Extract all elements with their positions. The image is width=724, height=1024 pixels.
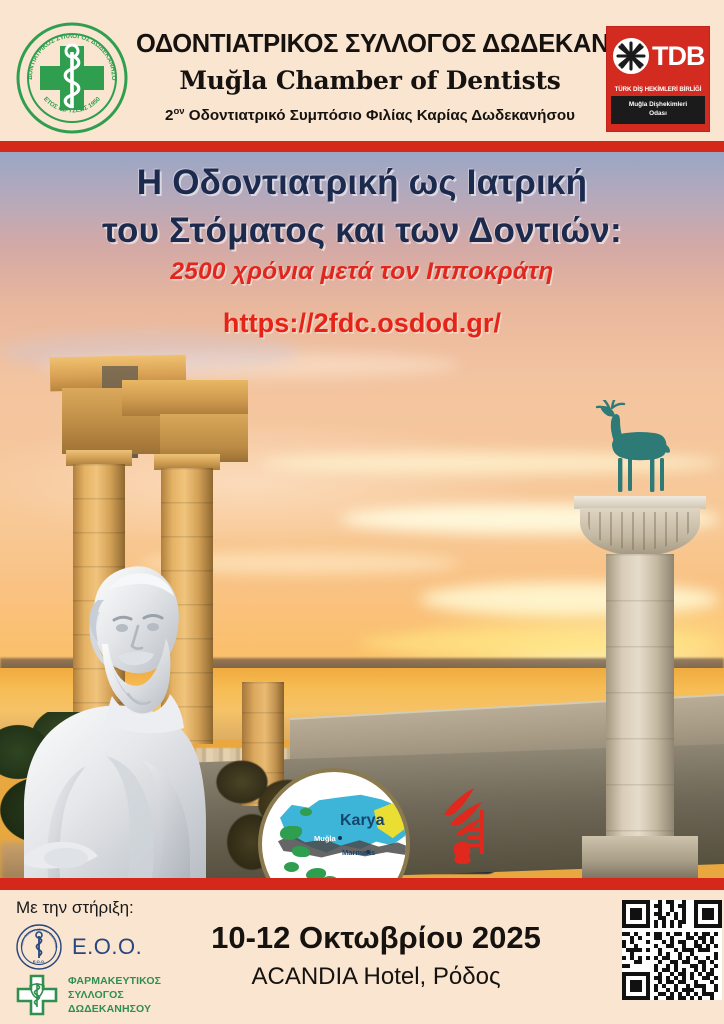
event-venue: ACANDIA Hotel, Ρόδος — [176, 963, 576, 991]
divider-top — [0, 141, 724, 152]
tdb-chamber-line1: Muğla Dişhekimleri — [611, 100, 705, 109]
tdb-chamber-panel: Muğla Dişhekimleri Odası — [611, 96, 705, 124]
poster-footer: Με την στήριξη: Ε.Ο.Ο. ΕΛΛΗΝΙΚΗ ΟΔΟΝΤΙΑΤ… — [0, 890, 724, 1024]
tdb-chamber-line2: Odası — [611, 109, 705, 118]
event-date: 10-12 Οκτωβρίου 2025 — [176, 920, 576, 956]
qr-code-icon[interactable] — [622, 900, 722, 1000]
symposium-subtitle: 2ον Οδοντιατρικό Συμπόσιο Φιλίας Καρίας … — [136, 106, 604, 124]
pharma-line-3: ΔΩΔΕΚΑΝΗΣΟΥ — [68, 1003, 151, 1015]
svg-text:Ε.Ο.Ο.: Ε.Ο.Ο. — [33, 959, 45, 964]
tdb-subtitle-turkish: TÜRK DİŞ HEKİMLERİ BİRLİĞİ — [607, 85, 709, 96]
map-island — [300, 808, 312, 816]
symposium-title: Οδοντιατρικό Συμπόσιο Φιλίας Καρίας Δωδε… — [185, 107, 575, 124]
organization-name-greek: ΟΔΟΝΤΙΑΤΡΙΚΟΣ ΣΥΛΛΟΓΟΣ ΔΩΔΕΚΑΝΗΣΟΥ — [136, 30, 604, 59]
tdb-logo: TDB TÜRK DİŞ HEKİMLERİ BİRLİĞİ Muğla Diş… — [606, 26, 710, 132]
pharma-line-1: ΦΑΡΜΑΚΕΥΤΙΚΟΣ — [68, 975, 161, 987]
eoo-seal-icon: Ε.Ο.Ο. ΕΛΛΗΝΙΚΗ ΟΔΟΝΤΙΑΤΡΙΚΗ ΟΜΟΣΠΟΝΔΙΑ — [16, 924, 62, 970]
organization-name-english: Muğla Chamber of Dentists — [136, 66, 604, 95]
rhodes-deer-statue — [560, 400, 720, 878]
pharmacy-association-supporter: ΦΑΡΜΑΚΕΥΤΙΚΟΣ ΣΥΛΛΟΓΟΣ ΔΩΔΕΚΑΝΗΣΟΥ — [16, 974, 161, 1017]
map-city-dot — [338, 836, 342, 840]
pharmacy-association-label: ΦΑΡΜΑΚΕΥΤΙΚΟΣ ΣΥΛΛΟΓΟΣ ΔΩΔΕΚΑΝΗΣΟΥ — [68, 975, 161, 1017]
map-label-karya: Karya — [340, 812, 384, 830]
dental-association-seal-icon: ΟΔΟΝΤΙΑΤΡΙΚΟΣ ΣΥΛΛΟΓΟΣ ΔΩΔΕΚΑΝΗΣΟΥ ΕΤΟΣ … — [16, 22, 128, 134]
header-titles: ΟΔΟΝΤΙΑΤΡΙΚΟΣ ΣΥΛΛΟΓΟΣ ΔΩΔΕΚΑΝΗΣΟΥ Muğla… — [136, 30, 604, 124]
map-label-marmaris: Marmaris — [342, 848, 375, 857]
tdb-wordmark: TDB — [652, 41, 705, 72]
hippocrates-marble-statue — [8, 556, 276, 878]
pharma-line-2: ΣΥΛΛΟΓΟΣ — [68, 989, 124, 1001]
tdb-knot-icon — [611, 36, 651, 76]
deer-icon — [588, 400, 692, 500]
map-island — [284, 862, 299, 872]
conference-poster: ΟΔΟΝΤΙΑΤΡΙΚΟΣ ΣΥΛΛΟΓΟΣ ΔΩΔΕΚΑΝΗΣΟΥ ΕΤΟΣ … — [0, 0, 724, 1024]
map-label-mugla: Muğla — [314, 834, 336, 843]
eoo-supporter: Ε.Ο.Ο. ΕΛΛΗΝΙΚΗ ΟΔΟΝΤΙΑΤΡΙΚΗ ΟΜΟΣΠΟΝΔΙΑ … — [16, 924, 142, 970]
pharmacy-cross-icon — [16, 974, 58, 1016]
divider-bottom — [0, 878, 724, 890]
map-island — [292, 846, 310, 857]
carian-rhodian-emblem-icon — [440, 784, 500, 864]
poster-header: ΟΔΟΝΤΙΑΤΡΙΚΟΣ ΣΥΛΛΟΓΟΣ ΔΩΔΕΚΑΝΗΣΟΥ ΕΤΟΣ … — [0, 0, 724, 140]
support-label: Με την στήριξη: — [16, 898, 134, 918]
symposium-ordinal-suffix: ον — [173, 106, 184, 117]
event-details: 10-12 Οκτωβρίου 2025 ACANDIA Hotel, Ρόδο… — [176, 920, 576, 991]
eoo-label: Ε.Ο.Ο. — [72, 934, 142, 960]
hero-image: Η Οδοντιατρική ως Ιατρική του Στόματος κ… — [0, 152, 724, 878]
